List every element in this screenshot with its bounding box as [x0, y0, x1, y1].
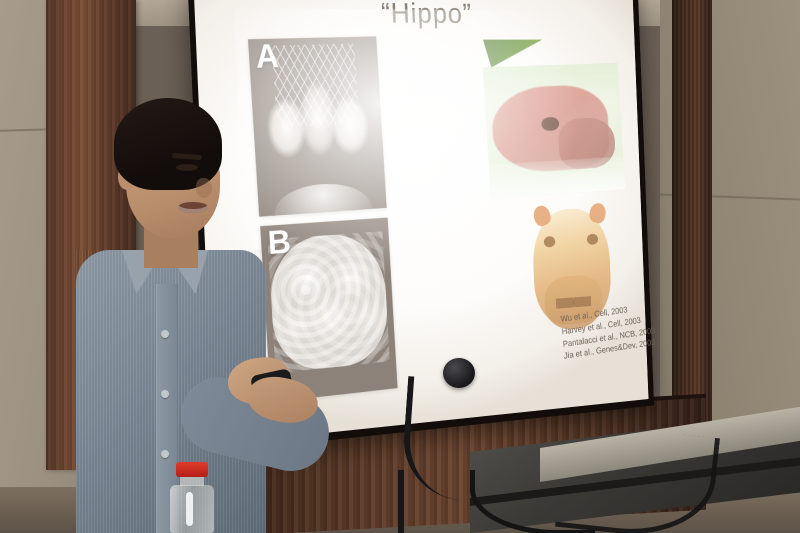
- microphone-stem: [398, 470, 404, 533]
- bottle-cap: [176, 462, 208, 477]
- speaker-nose: [196, 178, 212, 198]
- speaker-mouth: [178, 202, 208, 213]
- lecture-photo: “Hippo” A B WT Hippo KO: [0, 0, 800, 533]
- panel-letter-a: A: [255, 40, 280, 76]
- bottle-neck: [180, 476, 204, 486]
- shirt-button: [161, 330, 169, 338]
- hippo-in-water-photo: [483, 63, 626, 199]
- speaker-hair: [114, 98, 222, 190]
- shirt-button: [161, 390, 169, 398]
- water-splash: [489, 156, 626, 198]
- shirt-button: [161, 450, 169, 458]
- microphone-head[interactable]: [443, 358, 475, 388]
- water-bottle[interactable]: [168, 462, 216, 533]
- green-corner-shape: [483, 40, 543, 68]
- speaker: [60, 98, 380, 533]
- bottle-highlight: [186, 492, 193, 526]
- slide-title: “Hippo”: [194, 0, 634, 31]
- speaker-eye: [176, 164, 198, 171]
